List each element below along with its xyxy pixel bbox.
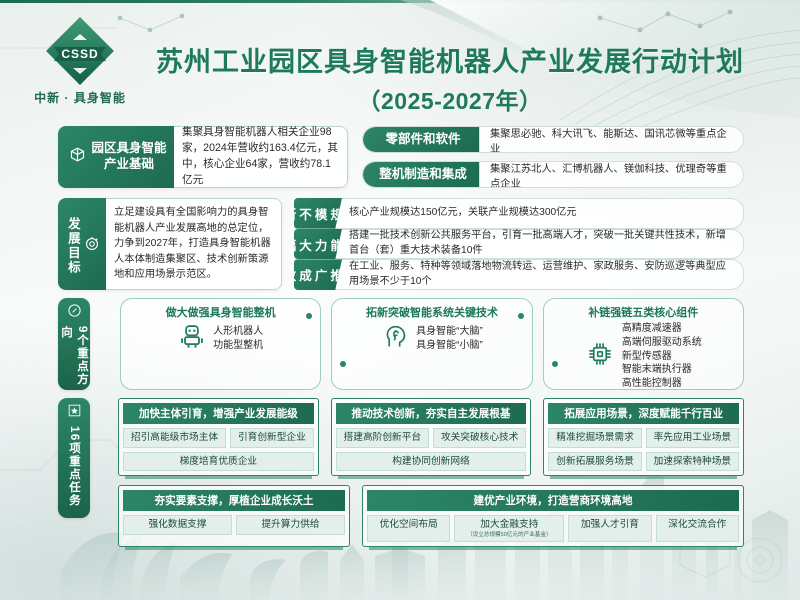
goals-tag-label: 发展目标: [64, 217, 80, 275]
task-chip: 强化数据支撑: [123, 515, 232, 535]
goal-text: 搭建一批技术创新公共服务平台，引育一批高端人才，突破一批关键共性技术，新增首台（…: [330, 229, 744, 260]
task-chip: 梯度培育优质企业: [123, 452, 314, 472]
basis-subrow-label: 零部件和软件: [363, 127, 479, 152]
top-accent-bar: [0, 0, 800, 3]
direction-title: 补链强链五类核心组件: [588, 304, 698, 320]
page-title: 苏州工业园区具身智能机器人产业发展行动计划: [120, 40, 780, 79]
direction-title: 做大做强具身智能整机: [166, 304, 276, 320]
direction-item: 新型传感器: [622, 350, 702, 364]
goal-row: 创新能力大幅提升 搭建一批技术创新公共服务平台，引育一批高端人才，突破一批关键共…: [294, 229, 744, 260]
goal-label: 创新能力大幅提升: [294, 229, 342, 260]
task-group-title: 加快主体引育，增强产业发展能级: [123, 403, 314, 424]
direction-card: 拓新突破智能系统关键技术 具身智能“大脑” 具身智能“小脑”: [331, 298, 532, 390]
task-chip: 精准挖掘场景需求: [548, 428, 641, 448]
cssd-diamond-logo-icon: CSSD: [43, 14, 117, 88]
goals-list: 产业规模不断壮大 核心产业规模达150亿元，关联产业规模达300亿元 创新能力大…: [294, 198, 744, 290]
basis-left-unit: 园区具身智能产业基础 集聚具身智能机器人相关企业98家，2024年营收约163.…: [58, 126, 348, 188]
basis-summary: 集聚具身智能机器人相关企业98家，2024年营收约163.4亿元，其中，核心企业…: [174, 126, 348, 188]
goal-label: 产业规模不断壮大: [294, 198, 342, 229]
direction-items: 高精度减速器 高端伺服驱动系统 新型传感器 智能末端执行器 高性能控制器: [622, 322, 702, 391]
brain-head-icon: [381, 322, 409, 355]
direction-items: 具身智能“大脑” 具身智能“小脑”: [416, 325, 483, 353]
goal-row: 应用推广成效显著 在工业、服务、特种等领域落地物流转运、运营维护、家政服务、安防…: [294, 259, 744, 290]
basis-subrow: 整机制造和集成 集聚江苏北人、汇博机器人、镁伽科技、优理奇等重点企业: [362, 161, 744, 188]
direction-card-list: 做大做强具身智能整机 人形机器人 功: [120, 298, 744, 390]
direction-item: 具身智能“小脑”: [416, 339, 483, 353]
task-group-title: 夯实要素支撑，厚植企业成长沃土: [123, 490, 345, 511]
logo-block: CSSD 中新 · 具身智能: [26, 14, 134, 106]
direction-item: 高端伺服驱动系统: [622, 336, 702, 350]
task-chip: 加大金融支持 （设立总规模50亿元的产业基金）: [454, 515, 564, 542]
goal-text: 在工业、服务、特种等领域落地物流转运、运营维护、家政服务、安防巡逻等典型应用场景…: [330, 259, 744, 290]
task-chip: 攻关突破核心技术: [433, 428, 526, 448]
direction-card: 补链强链五类核心组件 高精度减速器: [543, 298, 744, 390]
directions-tab-label: 9个重点方向: [58, 326, 90, 390]
task-group-title: 拓展应用场景，深度赋能千行百业: [548, 403, 739, 424]
direction-item: 具身智能“大脑”: [416, 325, 483, 339]
logo-caption: 中新 · 具身智能: [26, 89, 134, 106]
direction-title: 拓新突破智能系统关键技术: [366, 304, 498, 320]
direction-item: 功能型整机: [213, 339, 263, 353]
task-group: 建优产业环境，打造营商环境高地 优化空间布局 加大金融支持 （设立总规模50亿元…: [362, 485, 744, 547]
page-subtitle: （2025-2027年）: [120, 82, 780, 116]
section-nine-directions: 9个重点方向 做大做强具身智能整机: [58, 298, 744, 390]
basis-tag-label: 园区具身智能产业基础: [91, 141, 166, 172]
compass-icon: [67, 303, 82, 323]
task-group: 拓展应用场景，深度赋能千行百业 精准挖掘场景需求 率先应用工业场景 创新拓展服务…: [543, 398, 744, 476]
task-chip: 搭建高阶创新平台: [336, 428, 429, 448]
task-group-title: 建优产业环境，打造营商环境高地: [367, 490, 739, 511]
node-dot: [306, 313, 312, 319]
basis-subrow-label: 整机制造和集成: [363, 162, 479, 187]
basis-subrow-text: 集聚思必驰、科大讯飞、能斯达、国讯芯微等重点企业: [479, 127, 743, 152]
node-dot: [518, 313, 524, 319]
goals-summary: 立足建设具有全国影响力的具身智能机器人产业发展高地的总定位，力争到2027年，打…: [106, 198, 282, 290]
directions-vertical-tab: 9个重点方向: [58, 298, 90, 390]
node-dot: [340, 361, 346, 367]
task-group: 加快主体引育，增强产业发展能级 招引高能级市场主体 引育创新型企业 梯度培育优质…: [118, 398, 319, 476]
task-chip: 创新拓展服务场景: [548, 452, 641, 472]
task-chip: 深化交流合作: [656, 515, 739, 542]
chip-icon: [585, 339, 615, 374]
task-chip: 加速探索特种场景: [646, 452, 739, 472]
task-chip: 率先应用工业场景: [646, 428, 739, 448]
basis-tag: 园区具身智能产业基础: [58, 126, 174, 188]
direction-card: 做大做强具身智能整机 人形机器人 功: [120, 298, 321, 390]
tasks-vertical-tab: 16项重点任务: [58, 398, 90, 518]
star-icon: [67, 403, 82, 423]
direction-item: 智能末端执行器: [622, 363, 702, 377]
goal-label: 应用推广成效显著: [294, 259, 342, 290]
svg-text:CSSD: CSSD: [61, 47, 98, 61]
direction-item: 高性能控制器: [622, 377, 702, 391]
task-chip: 优化空间布局: [367, 515, 450, 542]
basis-subrow-text: 集聚江苏北人、汇博机器人、镁伽科技、优理奇等重点企业: [479, 162, 743, 187]
goals-left-unit: 发展目标 立足建设具有全国影响力的具身智能机器人产业发展高地的总定位，力争到20…: [58, 198, 282, 290]
tasks-tab-label: 16项重点任务: [66, 426, 82, 507]
goal-row: 产业规模不断壮大 核心产业规模达150亿元，关联产业规模达300亿元: [294, 198, 744, 229]
goal-text: 核心产业规模达150亿元，关联产业规模达300亿元: [330, 198, 744, 229]
task-group-title: 推动技术创新，夯实自主发展根基: [336, 403, 527, 424]
infographic-poster: CSSD 中新 · 具身智能 苏州工业园区具身智能机器人产业发展行动计划 （20…: [0, 0, 800, 600]
direction-item: 高精度减速器: [622, 322, 702, 336]
basis-subrows: 零部件和软件 集聚思必驰、科大讯飞、能斯达、国讯芯微等重点企业 整机制造和集成 …: [362, 126, 744, 188]
basis-subrow: 零部件和软件 集聚思必驰、科大讯飞、能斯达、国讯芯微等重点企业: [362, 126, 744, 153]
goals-tag: 发展目标: [58, 198, 106, 290]
direction-item: 人形机器人: [213, 325, 263, 339]
task-chip: 引育创新型企业: [230, 428, 314, 448]
poster-title-block: 苏州工业园区具身智能机器人产业发展行动计划 （2025-2027年）: [120, 40, 780, 116]
section-sixteen-tasks: 16项重点任务 加快主体引育，增强产业发展能级 招引高能级市场主体 引育创新型企…: [58, 398, 744, 538]
task-group: 夯实要素支撑，厚植企业成长沃土 强化数据支撑 提升算力供给: [118, 485, 350, 547]
cube-icon: [69, 146, 86, 168]
task-chip: 加强人才引育: [568, 515, 651, 542]
section-development-goals: 发展目标 立足建设具有全国影响力的具身智能机器人产业发展高地的总定位，力争到20…: [58, 198, 744, 290]
task-chip: 招引高能级市场主体: [123, 428, 226, 448]
task-chip: 提升算力供给: [236, 515, 345, 535]
direction-items: 人形机器人 功能型整机: [213, 325, 263, 353]
task-group: 推动技术创新，夯实自主发展根基 搭建高阶创新平台 攻关突破核心技术 构建协同创新…: [331, 398, 532, 476]
node-dot: [552, 361, 558, 367]
robot-icon: [178, 322, 206, 355]
task-groups: 加快主体引育，增强产业发展能级 招引高能级市场主体 引育创新型企业 梯度培育优质…: [118, 398, 744, 538]
target-icon: [84, 236, 100, 257]
task-chip: 构建协同创新网络: [336, 452, 527, 472]
section-industry-basis: 园区具身智能产业基础 集聚具身智能机器人相关企业98家，2024年营收约163.…: [58, 126, 744, 188]
